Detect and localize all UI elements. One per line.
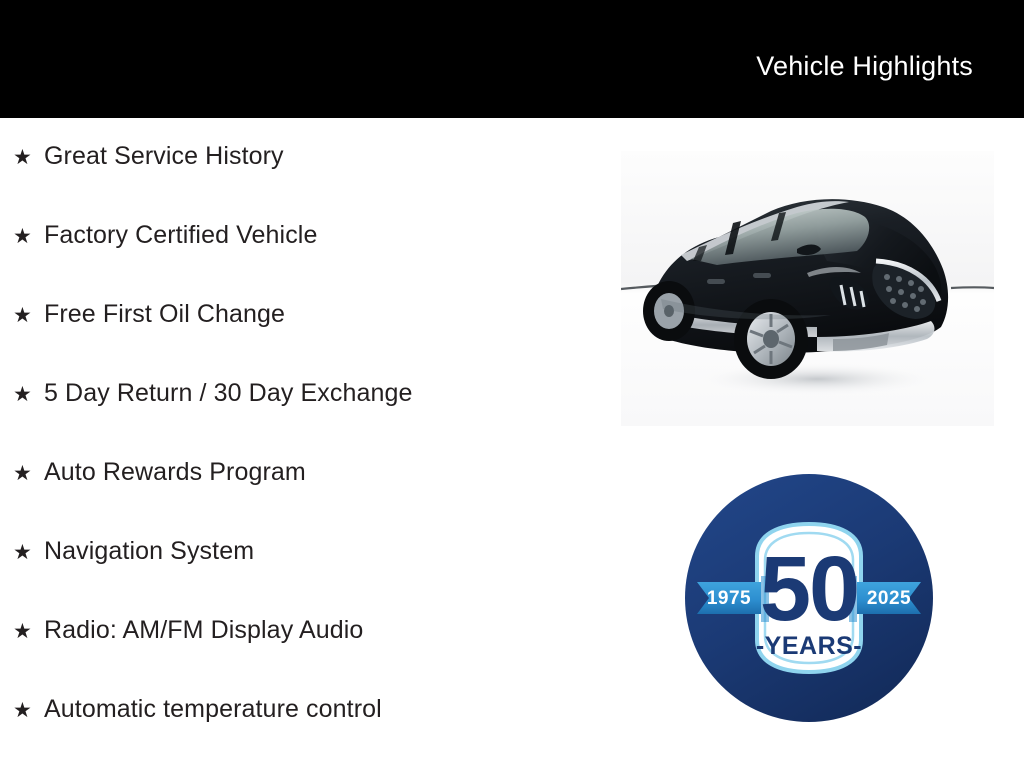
star-icon: ★ [13, 537, 44, 569]
list-item: ★ Great Service History [0, 140, 600, 219]
header-band: Vehicle Highlights [0, 0, 1024, 118]
end-year-label: 2025 [867, 588, 911, 609]
list-item: ★ 5 Day Return / 30 Day Exchange [0, 377, 600, 456]
star-icon: ★ [13, 458, 44, 490]
star-icon: ★ [13, 695, 44, 727]
list-item: ★ Factory Certified Vehicle [0, 219, 600, 298]
highlight-label: Auto Rewards Program [44, 456, 306, 488]
anniversary-badge: 1975 2025 50 -YEARS- [683, 472, 935, 724]
list-item: ★ Radio: AM/FM Display Audio [0, 614, 600, 693]
anniversary-years-label: -YEARS- [756, 632, 862, 660]
suv-illustration [621, 151, 994, 426]
vehicle-highlights-list: ★ Great Service History ★ Factory Certif… [0, 140, 600, 772]
list-item: ★ Automatic temperature control [0, 693, 600, 772]
start-year-label: 1975 [707, 588, 751, 609]
star-icon: ★ [13, 221, 44, 253]
highlight-label: Radio: AM/FM Display Audio [44, 614, 363, 646]
star-icon: ★ [13, 300, 44, 332]
list-item: ★ Free First Oil Change [0, 298, 600, 377]
anniversary-number: 50 [760, 538, 858, 640]
vehicle-photo [621, 151, 994, 426]
fifty-years-logo: 1975 2025 50 -YEARS- [683, 472, 935, 724]
page-title: Vehicle Highlights [756, 50, 973, 82]
highlight-label: Automatic temperature control [44, 693, 382, 725]
star-icon: ★ [13, 379, 44, 411]
star-icon: ★ [13, 142, 44, 174]
vehicle-highlights-slide: Vehicle Highlights ★ Great Service Histo… [0, 0, 1024, 768]
list-item: ★ Auto Rewards Program [0, 456, 600, 535]
star-icon: ★ [13, 616, 44, 648]
list-item: ★ Navigation System [0, 535, 600, 614]
highlight-label: Great Service History [44, 140, 284, 172]
highlight-label: 5 Day Return / 30 Day Exchange [44, 377, 412, 409]
highlight-label: Free First Oil Change [44, 298, 285, 330]
highlight-label: Navigation System [44, 535, 254, 567]
highlight-label: Factory Certified Vehicle [44, 219, 317, 251]
